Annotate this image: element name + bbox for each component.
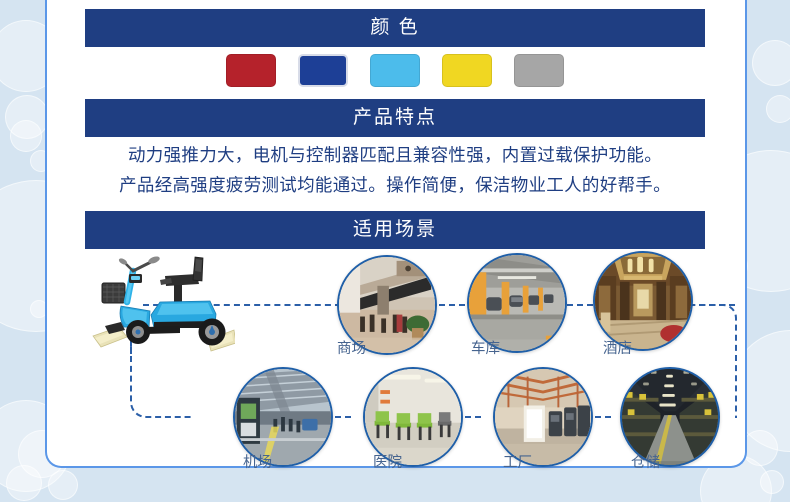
scene-circle-hotel-lobby[interactable] — [593, 251, 693, 351]
bubble-decoration — [760, 470, 784, 494]
scene-label-airport-terminal: 机场 — [243, 451, 272, 472]
color-swatch-list — [85, 54, 705, 90]
color-swatch-gray[interactable] — [514, 54, 564, 87]
section-header-feature: 产品特点 — [85, 99, 705, 137]
content-area: 颜 色 产品特点 动力强推力大，电机与控制器匹配且兼容性强，内置过载保护功能。 … — [85, 0, 705, 502]
scene-label-shopping-mall: 商场 — [337, 337, 366, 358]
feature-line-2: 产品经高强度疲劳测试均能通过。操作简便，保洁物业工人的好帮手。 — [85, 170, 705, 200]
bubble-decoration — [742, 430, 778, 466]
color-swatch-cyan[interactable] — [370, 54, 420, 87]
scene-label-warehouse-aisle: 仓储 — [631, 451, 660, 472]
bubble-decoration — [5, 95, 49, 139]
feature-description: 动力强推力大，电机与控制器匹配且兼容性强，内置过载保护功能。 产品经高强度疲劳测… — [85, 140, 705, 200]
scene-label-hospital-waiting-room: 医院 — [373, 451, 402, 472]
scene-diagram: 商场 车库 — [85, 249, 705, 484]
bubble-decoration — [48, 470, 78, 500]
color-swatch-blue[interactable] — [298, 54, 348, 87]
bubble-decoration — [766, 95, 790, 123]
product-scooter-image — [90, 252, 235, 357]
color-swatch-yellow[interactable] — [442, 54, 492, 87]
feature-line-1: 动力强推力大，电机与控制器匹配且兼容性强，内置过载保护功能。 — [85, 140, 705, 170]
color-swatch-red[interactable] — [226, 54, 276, 87]
bubble-decoration — [752, 40, 790, 86]
scene-label-factory-workshop: 工厂 — [503, 451, 532, 472]
scene-label-parking-garage: 车库 — [471, 337, 500, 358]
scene-label-hotel-lobby: 酒店 — [603, 337, 632, 358]
section-header-scene: 适用场景 — [85, 211, 705, 249]
bubble-decoration — [6, 465, 42, 501]
scene-photo-hotel-lobby — [595, 253, 691, 349]
section-header-color: 颜 色 — [85, 9, 705, 47]
